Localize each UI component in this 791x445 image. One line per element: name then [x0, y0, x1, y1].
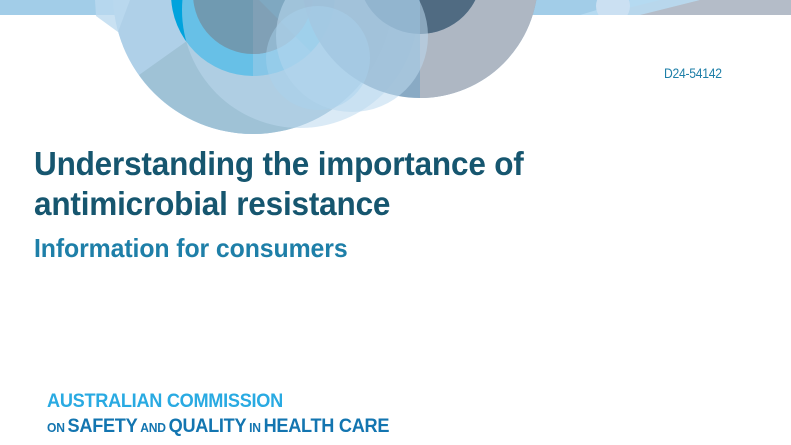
logo-word-quality: QUALITY — [169, 415, 247, 437]
page-subtitle: Information for consumers — [34, 232, 645, 264]
document-reference-number: D24-54142 — [664, 66, 722, 81]
logo-word-health-care: HEALTH CARE — [264, 415, 390, 437]
document-page: D24-54142 Understanding the importance o… — [0, 0, 791, 445]
logo-line-australian-commission: AUSTRALIAN COMMISSION — [47, 392, 389, 412]
logo-word-in: IN — [249, 420, 261, 435]
acsqhc-logo: AUSTRALIAN COMMISSION ONSAFETYANDQUALITY… — [47, 392, 415, 436]
logo-line-safety-quality-health-care: ONSAFETYANDQUALITYINHEALTH CARE — [47, 417, 389, 437]
page-title: Understanding the importance of antimicr… — [34, 144, 645, 224]
logo-word-and: AND — [140, 420, 166, 435]
logo-word-on: ON — [47, 420, 65, 435]
logo-word-safety: SAFETY — [68, 415, 138, 437]
title-block: Understanding the importance of antimicr… — [34, 144, 674, 264]
